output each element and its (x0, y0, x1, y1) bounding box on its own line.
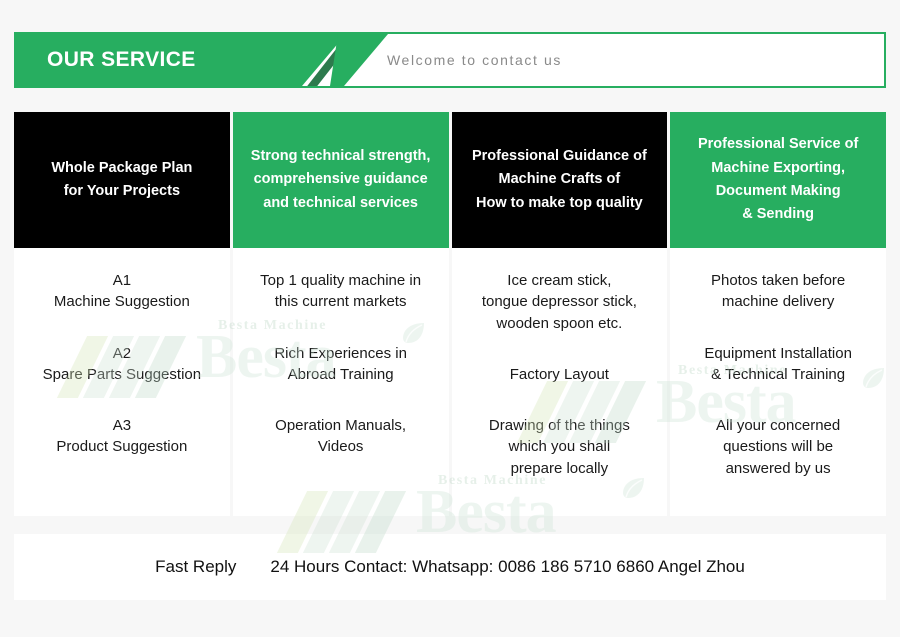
service-card-grid: Whole Package Planfor Your ProjectsA1Mac… (14, 112, 886, 516)
service-card-item-line: Product Suggestion (56, 436, 187, 457)
service-card-item: Rich Experiences inAbroad Training (274, 343, 407, 386)
service-card-item: All your concernedquestions will beanswe… (716, 415, 840, 479)
service-card-header: Strong technical strength,comprehensive … (233, 112, 449, 248)
footer-inner: Fast Reply 24 Hours Contact: Whatsapp: 0… (155, 557, 745, 577)
service-card-item: Factory Layout (510, 364, 609, 385)
service-card-item-line: & Technical Training (704, 364, 852, 385)
service-card-item-line: A1 (54, 270, 190, 291)
service-card-item: Top 1 quality machine inthis current mar… (260, 270, 421, 313)
service-card-header: Whole Package Planfor Your Projects (14, 112, 230, 248)
service-card-item-line: Equipment Installation (704, 343, 852, 364)
service-card-header-line: How to make top quality (476, 192, 643, 215)
service-card-header-line: Machine Crafts of (499, 168, 621, 191)
service-card-item-line: which you shall (489, 436, 630, 457)
service-card-header-line: Whole Package Plan (51, 157, 192, 180)
service-card-item-line: Abroad Training (274, 364, 407, 385)
service-card-item-line: Top 1 quality machine in (260, 270, 421, 291)
service-card-body: Top 1 quality machine inthis current mar… (233, 248, 449, 516)
service-card-item: A3Product Suggestion (56, 415, 187, 458)
service-card-item-line: Factory Layout (510, 364, 609, 385)
service-card-header: Professional Service ofMachine Exporting… (670, 112, 886, 248)
page-title: OUR SERVICE (47, 48, 196, 72)
service-card: Professional Guidance ofMachine Crafts o… (452, 112, 668, 516)
header-green-accent-shape (330, 34, 388, 86)
service-card: Professional Service ofMachine Exporting… (670, 112, 886, 516)
service-card-item: Photos taken beforemachine delivery (711, 270, 845, 313)
service-card-item-line: A2 (43, 343, 201, 364)
service-card-header-line: & Sending (742, 203, 814, 226)
service-card-item-line: wooden spoon etc. (482, 313, 637, 334)
service-card-item-line: A3 (56, 415, 187, 436)
service-card-item-line: Photos taken before (711, 270, 845, 291)
service-card-body: Ice cream stick,tongue depressor stick,w… (452, 248, 668, 516)
service-card-body: Photos taken beforemachine deliveryEquip… (670, 248, 886, 516)
header-subtitle: Welcome to contact us (387, 52, 562, 68)
service-card-header-line: Document Making (716, 180, 841, 203)
service-page: OUR SERVICE Welcome to contact us Whole … (0, 0, 900, 637)
service-card-item-line: questions will be (716, 436, 840, 457)
service-card-item: A2Spare Parts Suggestion (43, 343, 201, 386)
service-card-body: A1Machine SuggestionA2Spare Parts Sugges… (14, 248, 230, 516)
service-card-header-line: Strong technical strength, (251, 145, 431, 168)
service-card-item-line: Videos (275, 436, 406, 457)
service-card-header-line: Professional Guidance of (472, 145, 647, 168)
service-card-item-line: machine delivery (711, 291, 845, 312)
footer-contact-bar: Fast Reply 24 Hours Contact: Whatsapp: 0… (14, 534, 886, 600)
service-card-item-line: tongue depressor stick, (482, 291, 637, 312)
service-card-item-line: Drawing of the things (489, 415, 630, 436)
service-card-item-line: Spare Parts Suggestion (43, 364, 201, 385)
service-card-header-line: for Your Projects (64, 180, 180, 203)
service-card-item: Drawing of the thingswhich you shallprep… (489, 415, 630, 479)
service-card-item: Equipment Installation& Technical Traini… (704, 343, 852, 386)
service-card-item: Ice cream stick,tongue depressor stick,w… (482, 270, 637, 334)
service-card-item-line: this current markets (260, 291, 421, 312)
service-card-item-line: answered by us (716, 458, 840, 479)
service-card: Whole Package Planfor Your ProjectsA1Mac… (14, 112, 230, 516)
service-card-item-line: Machine Suggestion (54, 291, 190, 312)
fast-reply-label: Fast Reply (155, 557, 236, 577)
service-card-header-line: and technical services (263, 192, 418, 215)
contact-info-text: 24 Hours Contact: Whatsapp: 0086 186 571… (270, 557, 744, 577)
service-card-header-line: comprehensive guidance (254, 168, 428, 191)
service-card-item-line: prepare locally (489, 458, 630, 479)
service-card-header: Professional Guidance ofMachine Crafts o… (452, 112, 668, 248)
service-card-item-line: Rich Experiences in (274, 343, 407, 364)
service-card-item-line: Ice cream stick, (482, 270, 637, 291)
service-card-item-line: Operation Manuals, (275, 415, 406, 436)
service-card-header-line: Machine Exporting, (711, 157, 845, 180)
service-card-item-line: All your concerned (716, 415, 840, 436)
section-header-banner: OUR SERVICE Welcome to contact us (14, 32, 886, 88)
service-card: Strong technical strength,comprehensive … (233, 112, 449, 516)
service-card-header-line: Professional Service of (698, 133, 858, 156)
service-card-item: Operation Manuals,Videos (275, 415, 406, 458)
service-card-item: A1Machine Suggestion (54, 270, 190, 313)
